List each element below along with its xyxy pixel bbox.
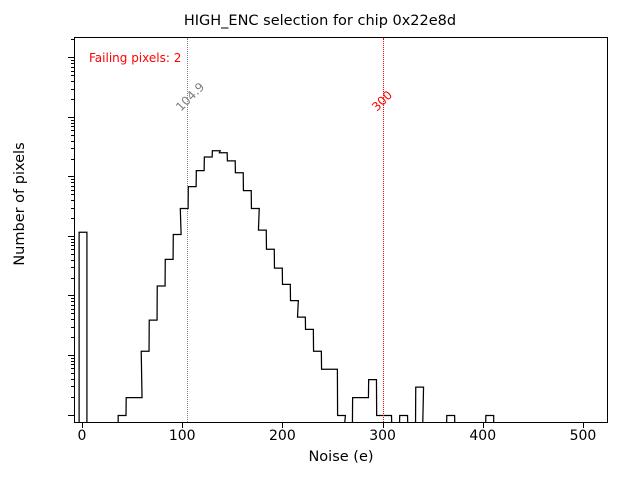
x-tick-mark: [182, 423, 183, 428]
x-tick-mark: [82, 423, 83, 428]
plot-area: [74, 37, 608, 423]
x-tick-label: 100: [169, 428, 196, 444]
x-tick-mark: [583, 423, 584, 428]
x-tick-mark: [483, 423, 484, 428]
x-tick-mark: [282, 423, 283, 428]
histogram-step-line: [79, 151, 494, 423]
page-title: HIGH_ENC selection for chip 0x22e8d: [0, 13, 640, 29]
x-tick-label: 500: [570, 428, 597, 444]
x-tick-mark: [383, 423, 384, 428]
y-axis-label: Number of pixels: [12, 54, 28, 354]
x-tick-label: 200: [269, 428, 296, 444]
failing-pixels-annotation: Failing pixels: 2: [89, 51, 181, 65]
histogram-figure: HIGH_ENC selection for chip 0x22e8d Numb…: [0, 0, 640, 480]
x-tick-label: 300: [369, 428, 396, 444]
x-tick-label: 0: [78, 428, 87, 444]
x-axis-label: Noise (e): [74, 449, 608, 465]
histogram-series: [75, 38, 608, 423]
x-tick-label: 400: [469, 428, 496, 444]
